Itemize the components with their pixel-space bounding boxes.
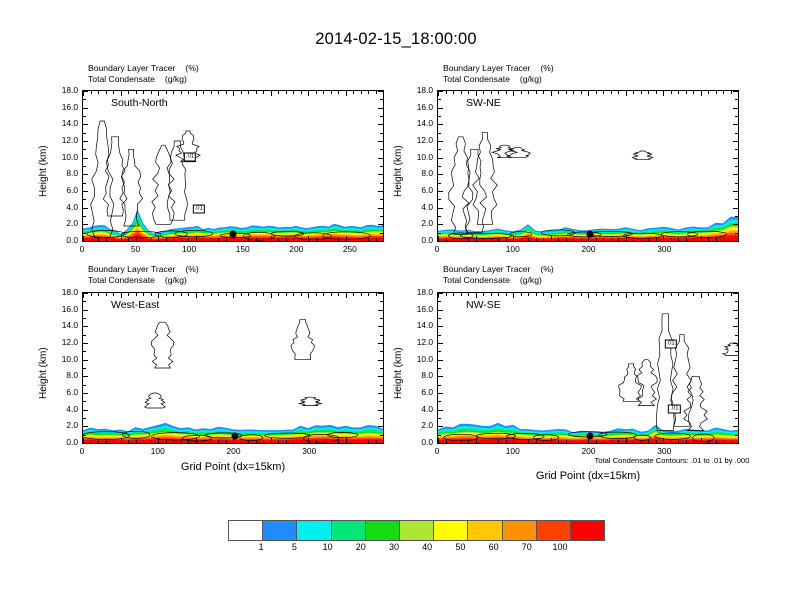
y-tick-label: 6.0: [50, 185, 78, 195]
axis-tick: [438, 149, 441, 150]
axis-tick: [603, 440, 604, 443]
axis-tick: [143, 293, 144, 296]
colorbar-swatch: [263, 521, 297, 540]
axis-tick: [301, 293, 302, 296]
axis-tick: [693, 440, 694, 443]
axis-tick: [733, 376, 738, 377]
axis-tick: [378, 410, 383, 411]
y-tick-label: 2.0: [50, 420, 78, 430]
axis-tick: [528, 440, 529, 443]
axis-tick: [143, 238, 144, 241]
axis-tick: [361, 91, 362, 94]
panel-header-line2: Total Condensate(g/kg): [88, 275, 199, 286]
axis-tick: [738, 293, 739, 298]
axis-tick: [476, 236, 477, 241]
axis-tick: [323, 440, 324, 443]
axis-tick: [263, 238, 264, 241]
axis-tick: [331, 293, 332, 296]
axis-tick: [733, 158, 738, 159]
axis-tick: [256, 91, 257, 94]
axis-tick: [128, 238, 129, 241]
axis-tick: [218, 293, 219, 296]
axis-tick: [83, 351, 86, 352]
axis-tick: [438, 443, 443, 444]
axis-tick: [611, 293, 612, 296]
axis-tick: [378, 241, 383, 242]
panel-header-unit2: (g/kg): [155, 74, 187, 85]
axis-tick: [491, 440, 492, 443]
axis-tick: [241, 91, 242, 94]
axis-tick: [226, 293, 227, 296]
axis-tick: [346, 438, 347, 443]
axis-tick: [446, 293, 447, 296]
y-tick-label: 6.0: [405, 387, 433, 397]
axis-tick: [173, 293, 174, 296]
axis-tick: [181, 440, 182, 443]
axis-tick: [498, 91, 499, 94]
axis-tick: [331, 91, 332, 94]
axis-tick: [136, 293, 137, 296]
axis-tick: [536, 440, 537, 443]
x-axis-title-left: Grid Point (dx=15km): [181, 461, 285, 473]
axis-tick: [151, 440, 152, 443]
axis-tick: [151, 238, 152, 241]
axis-tick: [686, 440, 687, 443]
axis-tick: [83, 91, 88, 92]
axis-tick: [128, 440, 129, 443]
y-tick-label: 18.0: [405, 287, 433, 297]
axis-tick: [521, 293, 522, 296]
axis-tick: [346, 91, 347, 96]
axis-tick: [558, 293, 559, 296]
y-tick-label: 4.0: [50, 404, 78, 414]
axis-tick: [323, 293, 324, 296]
axis-tick: [383, 293, 384, 298]
y-tick-label: 18.0: [405, 85, 433, 95]
axis-tick: [438, 301, 441, 302]
axis-tick: [686, 238, 687, 241]
axis-tick: [438, 99, 441, 100]
axis-tick: [678, 91, 679, 94]
axis-tick: [733, 343, 738, 344]
axis-tick: [738, 91, 739, 96]
colorbar-swatch: [229, 521, 263, 540]
axis-tick: [181, 293, 182, 296]
axis-tick: [83, 208, 88, 209]
axis-tick: [483, 440, 484, 443]
axis-tick: [376, 91, 377, 94]
axis-tick: [338, 293, 339, 296]
axis-tick: [438, 116, 441, 117]
condensate-plume-contour: [684, 376, 708, 430]
axis-tick: [83, 443, 88, 444]
axis-tick: [641, 238, 642, 241]
plot-area-south-north[interactable]: South-North.01.01: [82, 90, 384, 242]
y-axis-title: Height (km): [393, 347, 404, 399]
axis-tick: [731, 440, 732, 443]
axis-tick: [498, 293, 499, 296]
axis-tick: [361, 440, 362, 443]
colorbar-tick-label: 5: [292, 542, 297, 552]
axis-tick: [626, 438, 627, 443]
axis-tick: [723, 440, 724, 443]
y-tick-label: 16.0: [405, 304, 433, 314]
axis-tick: [218, 440, 219, 443]
axis-tick: [735, 99, 738, 100]
axis-tick: [438, 141, 443, 142]
axis-tick: [378, 310, 383, 311]
axis-tick: [735, 385, 738, 386]
axis-tick: [663, 236, 664, 241]
axis-tick: [483, 238, 484, 241]
axis-tick: [83, 108, 88, 109]
axis-tick: [353, 293, 354, 296]
axis-tick: [106, 293, 107, 296]
axis-tick: [203, 440, 204, 443]
axis-tick: [378, 360, 383, 361]
y-tick-label: 16.0: [50, 102, 78, 112]
axis-tick: [188, 293, 189, 296]
axis-tick: [733, 241, 738, 242]
axis-tick: [438, 360, 443, 361]
axis-tick: [528, 293, 529, 296]
axis-tick: [708, 293, 709, 296]
axis-tick: [438, 216, 441, 217]
axis-tick: [506, 91, 507, 94]
axis-tick: [735, 401, 738, 402]
axis-tick: [678, 238, 679, 241]
axis-tick: [735, 183, 738, 184]
axis-tick: [528, 238, 529, 241]
x-tick-label: 200: [582, 244, 596, 254]
axis-tick: [551, 91, 552, 96]
axis-tick: [491, 293, 492, 296]
axis-tick: [735, 133, 738, 134]
panel-header-line2: Total Condensate(g/kg): [88, 74, 199, 85]
axis-tick: [438, 293, 443, 294]
axis-tick: [83, 376, 88, 377]
axis-tick: [693, 238, 694, 241]
axis-tick: [513, 91, 514, 96]
axis-tick: [536, 91, 537, 94]
axis-tick: [438, 326, 443, 327]
axis-tick: [121, 438, 122, 443]
axis-tick: [196, 293, 197, 298]
axis-tick: [83, 426, 88, 427]
axis-tick: [106, 440, 107, 443]
plot-area-nw-se[interactable]: NW-SE.01.01: [437, 292, 739, 444]
colorbar-swatch: [537, 521, 571, 540]
axis-tick: [648, 440, 649, 443]
axis-tick: [735, 368, 738, 369]
axis-tick: [735, 335, 738, 336]
y-tick-label: 10.0: [50, 152, 78, 162]
axis-tick: [438, 208, 443, 209]
axis-tick: [536, 293, 537, 296]
axis-tick: [378, 293, 383, 294]
y-tick-label: 10.0: [405, 152, 433, 162]
axis-tick: [113, 440, 114, 443]
axis-tick: [91, 440, 92, 443]
axis-tick: [286, 91, 287, 94]
axis-tick: [83, 166, 86, 167]
axis-tick: [438, 174, 443, 175]
axis-tick: [286, 238, 287, 241]
condensate-plume-contour: [632, 151, 652, 159]
axis-tick: [331, 440, 332, 443]
axis-tick: [378, 208, 383, 209]
axis-tick: [476, 91, 477, 96]
axis-tick: [483, 293, 484, 296]
axis-tick: [701, 293, 702, 298]
x-tick-label: 100: [506, 446, 520, 456]
axis-tick: [316, 293, 317, 296]
colorbar-swatch: [366, 521, 400, 540]
y-tick-label: 16.0: [50, 304, 78, 314]
y-tick-label: 12.0: [50, 337, 78, 347]
contour-fill-south-north: [83, 91, 383, 241]
axis-tick: [256, 293, 257, 296]
axis-tick: [453, 293, 454, 296]
axis-tick: [588, 293, 589, 298]
axis-tick: [173, 440, 174, 443]
axis-tick: [573, 238, 574, 241]
panel-header-line1: Boundary Layer Tracer(%): [443, 264, 554, 275]
condensate-plume-contour: [505, 148, 530, 158]
axis-tick: [438, 183, 441, 184]
axis-tick: [331, 238, 332, 241]
y-axis-title: Height (km): [38, 347, 49, 399]
axis-tick: [723, 238, 724, 241]
x-tick-label: 250: [343, 244, 357, 254]
axis-tick: [98, 238, 99, 241]
axis-tick: [686, 293, 687, 296]
axis-tick: [368, 293, 369, 296]
axis-tick: [263, 440, 264, 443]
axis-tick: [438, 224, 443, 225]
axis-tick: [166, 440, 167, 443]
axis-tick: [611, 238, 612, 241]
axis-tick: [528, 91, 529, 94]
axis-tick: [233, 91, 234, 96]
y-tick-label: 14.0: [405, 118, 433, 128]
condensate-plume-contour: [449, 137, 473, 235]
y-tick-label: 14.0: [50, 118, 78, 128]
axis-tick: [83, 293, 88, 294]
axis-tick: [203, 238, 204, 241]
condensate-plume-contour: [152, 145, 175, 224]
condensate-plume-contour: [291, 320, 314, 360]
axis-tick: [91, 293, 92, 296]
y-tick-label: 6.0: [50, 387, 78, 397]
axis-tick: [361, 238, 362, 241]
y-tick-label: 4.0: [405, 404, 433, 414]
axis-tick: [121, 293, 122, 298]
axis-tick: [83, 435, 86, 436]
axis-tick: [293, 293, 294, 296]
axis-tick: [380, 216, 383, 217]
axis-tick: [136, 238, 137, 241]
axis-tick: [316, 440, 317, 443]
axis-tick: [686, 91, 687, 94]
axis-tick: [476, 438, 477, 443]
axis-tick: [633, 440, 634, 443]
axis-tick: [521, 440, 522, 443]
colorbar-tick-label: 10: [323, 542, 333, 552]
axis-tick: [121, 91, 122, 96]
axis-tick: [83, 183, 86, 184]
axis-tick: [498, 440, 499, 443]
axis-tick: [158, 438, 159, 443]
axis-tick: [83, 216, 86, 217]
axis-tick: [380, 199, 383, 200]
colorbar-tick-label: 60: [489, 542, 499, 552]
colorbar-swatch: [503, 521, 537, 540]
axis-tick: [368, 238, 369, 241]
axis-tick: [438, 91, 443, 92]
axis-tick: [671, 238, 672, 241]
axis-tick: [380, 368, 383, 369]
axis-tick: [551, 293, 552, 298]
axis-tick: [83, 310, 88, 311]
axis-tick: [438, 233, 441, 234]
axis-tick: [648, 238, 649, 241]
axis-tick: [596, 440, 597, 443]
axis-tick: [98, 293, 99, 296]
panel-header-unit2: (g/kg): [510, 74, 542, 85]
axis-tick: [166, 91, 167, 94]
axis-tick: [293, 91, 294, 94]
axis-tick: [461, 91, 462, 94]
axis-tick: [733, 310, 738, 311]
axis-tick: [558, 238, 559, 241]
x-tick-label: 0: [435, 446, 440, 456]
plot-area-west-east[interactable]: West-East: [82, 292, 384, 444]
axis-tick: [121, 236, 122, 241]
y-tick-label: 16.0: [405, 102, 433, 112]
axis-tick: [626, 293, 627, 298]
axis-tick: [733, 443, 738, 444]
axis-tick: [438, 418, 441, 419]
axis-tick: [558, 91, 559, 94]
axis-tick: [733, 91, 738, 92]
condensate-plume-contour: [473, 133, 498, 225]
y-tick-label: 8.0: [50, 370, 78, 380]
axis-tick: [716, 293, 717, 296]
axis-tick: [588, 91, 589, 96]
axis-tick: [618, 440, 619, 443]
axis-tick: [671, 293, 672, 296]
axis-tick: [438, 376, 443, 377]
axis-tick: [701, 236, 702, 241]
axis-tick: [498, 238, 499, 241]
axis-tick: [438, 368, 441, 369]
axis-tick: [286, 440, 287, 443]
axis-tick: [438, 426, 443, 427]
plot-area-sw-ne[interactable]: SW-NE: [437, 90, 739, 242]
axis-tick: [211, 91, 212, 94]
x-tick-label: 200: [227, 446, 241, 456]
axis-tick: [656, 440, 657, 443]
axis-tick: [733, 360, 738, 361]
axis-tick: [316, 238, 317, 241]
axis-tick: [248, 238, 249, 241]
figure-title: 2014-02-15_18:00:00: [0, 30, 792, 49]
x-tick-label: 150: [236, 244, 250, 254]
axis-tick: [648, 91, 649, 94]
axis-tick: [380, 318, 383, 319]
x-tick-label: 300: [657, 244, 671, 254]
axis-tick: [618, 293, 619, 296]
axis-tick: [196, 438, 197, 443]
contour-label: .01: [668, 404, 680, 413]
contour-note: Total Condensate Contours: .01 to .01 by…: [595, 456, 750, 465]
axis-tick: [543, 293, 544, 296]
axis-tick: [378, 191, 383, 192]
axis-tick: [323, 91, 324, 94]
axis-tick: [211, 238, 212, 241]
axis-tick: [158, 293, 159, 298]
axis-tick: [543, 91, 544, 94]
axis-tick: [641, 440, 642, 443]
axis-tick: [380, 149, 383, 150]
axis-tick: [301, 238, 302, 241]
axis-tick: [573, 440, 574, 443]
axis-tick: [716, 440, 717, 443]
panel-header-nw-se: Boundary Layer Tracer(%)Total Condensate…: [443, 264, 554, 285]
axis-tick: [106, 238, 107, 241]
axis-tick: [83, 224, 88, 225]
axis-tick: [603, 91, 604, 94]
axis-tick: [83, 301, 86, 302]
y-tick-label: 18.0: [50, 85, 78, 95]
axis-tick: [376, 293, 377, 296]
axis-tick: [491, 238, 492, 241]
axis-tick: [438, 108, 443, 109]
axis-tick: [196, 91, 197, 96]
y-tick-label: 18.0: [50, 287, 78, 297]
axis-tick: [353, 440, 354, 443]
axis-tick: [361, 293, 362, 296]
axis-tick: [378, 343, 383, 344]
axis-tick: [378, 443, 383, 444]
axis-tick: [380, 116, 383, 117]
axis-tick: [218, 238, 219, 241]
axis-tick: [293, 238, 294, 241]
axis-tick: [716, 91, 717, 94]
axis-tick: [263, 91, 264, 94]
axis-tick: [603, 238, 604, 241]
axis-tick: [301, 440, 302, 443]
axis-tick: [113, 91, 114, 94]
axis-tick: [733, 293, 738, 294]
y-tick-label: 0.0: [50, 437, 78, 447]
condensate-plume-contour: [722, 343, 738, 356]
axis-tick: [188, 440, 189, 443]
panel-header-unit2: (g/kg): [155, 275, 187, 286]
axis-tick: [733, 224, 738, 225]
axis-tick: [378, 174, 383, 175]
axis-tick: [380, 166, 383, 167]
axis-tick: [723, 91, 724, 94]
axis-tick: [618, 91, 619, 94]
panel-header-sw-ne: Boundary Layer Tracer(%)Total Condensate…: [443, 63, 554, 84]
axis-tick: [558, 440, 559, 443]
axis-tick: [468, 293, 469, 296]
axis-tick: [438, 310, 443, 311]
axis-tick: [438, 401, 441, 402]
condensate-plume-contour: [462, 149, 486, 232]
